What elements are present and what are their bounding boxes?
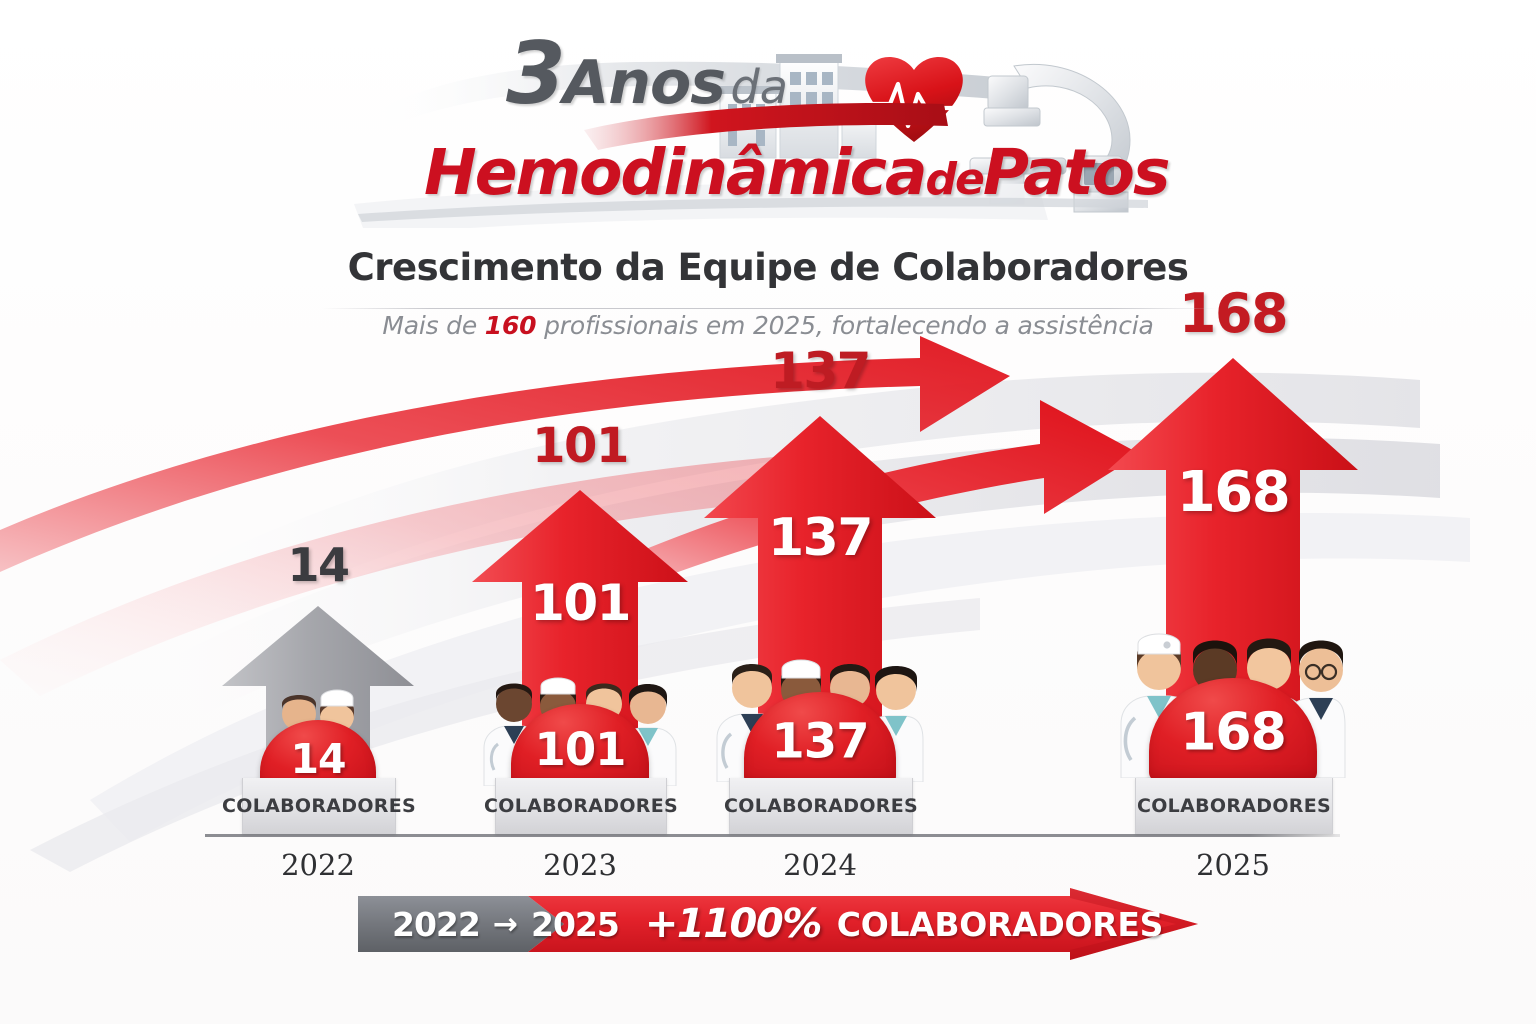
bar-top-value-2022: 14 xyxy=(287,538,348,592)
x-axis-label-2025: 2025 xyxy=(1104,848,1362,882)
dome-value-2024: 137 xyxy=(771,713,868,769)
summary-banner[interactable]: 2022 → 2025 +1100% COLABORADORES xyxy=(358,888,1198,960)
dome-value-2023: 101 xyxy=(535,723,626,776)
plate-label-2022: COLABORADORES xyxy=(222,795,416,817)
logo-line-two: HemodinâmicadePatos xyxy=(424,136,1168,209)
dome-value-2025: 168 xyxy=(1180,703,1286,763)
chart-baseline-axis xyxy=(205,834,1340,837)
banner-percent: +1100% xyxy=(645,901,821,947)
plate-label-2023: COLABORADORES xyxy=(484,795,678,817)
arrow-right-icon: → xyxy=(493,907,518,942)
logo-da-word: da xyxy=(731,60,788,114)
logo-line-one: 3Anos da xyxy=(506,24,788,124)
logo-anos-word: Anos xyxy=(563,48,725,118)
title-divider xyxy=(322,308,1218,309)
bar-2022[interactable]: 14 xyxy=(218,602,418,834)
banner-from-year: 2022 xyxy=(392,905,480,944)
bar-inner-value-2023: 101 xyxy=(530,574,630,632)
brand-logo: 3Anos da HemodinâmicadePatos xyxy=(348,8,1188,228)
subtitle-post: profissionais em 2025, fortalecendo a as… xyxy=(536,311,1153,340)
bar-chart: 14 xyxy=(0,340,1536,870)
heading-block: Crescimento da Equipe de Colaboradores M… xyxy=(0,246,1536,340)
bar-plate-2025: COLABORADORES xyxy=(1135,778,1333,834)
infographic-canvas: 3Anos da HemodinâmicadePatos Crescimento… xyxy=(0,0,1536,1024)
x-axis-label-2024: 2024 xyxy=(700,848,940,882)
bar-top-value-2023: 101 xyxy=(532,418,628,474)
subtitle-pre: Mais de xyxy=(382,311,484,340)
banner-to-year: 2025 xyxy=(531,905,619,944)
bar-2025[interactable]: 168 168 xyxy=(1104,354,1362,834)
x-axis-label-2023: 2023 xyxy=(468,848,692,882)
bar-plate-2022: COLABORADORES xyxy=(242,778,396,834)
bar-inner-value-2024: 137 xyxy=(768,508,872,568)
banner-word: COLABORADORES xyxy=(837,905,1163,944)
dome-value-2022: 14 xyxy=(290,735,345,783)
logo-de: de xyxy=(926,154,983,205)
bar-top-value-2024: 137 xyxy=(770,342,870,400)
bar-2023[interactable]: 101 101 xyxy=(468,486,692,834)
page-title: Crescimento da Equipe de Colaboradores xyxy=(0,246,1536,289)
bar-2024[interactable]: 137 137 xyxy=(700,412,940,834)
logo-years-number: 3 xyxy=(506,24,563,124)
bar-plate-2024: COLABORADORES xyxy=(729,778,913,834)
x-axis-label-2022: 2022 xyxy=(218,848,418,882)
page-subtitle: Mais de 160 profissionais em 2025, forta… xyxy=(0,311,1536,340)
logo-hemodinamica: Hemodinâmica xyxy=(424,136,926,209)
logo-patos: Patos xyxy=(983,136,1169,209)
summary-banner-text: 2022 → 2025 +1100% COLABORADORES xyxy=(358,888,1198,960)
bar-inner-value-2025: 168 xyxy=(1177,460,1289,525)
plate-label-2024: COLABORADORES xyxy=(724,795,918,817)
subtitle-highlight: 160 xyxy=(485,311,537,340)
plate-label-2025: COLABORADORES xyxy=(1137,795,1331,817)
bar-plate-2023: COLABORADORES xyxy=(495,778,667,834)
